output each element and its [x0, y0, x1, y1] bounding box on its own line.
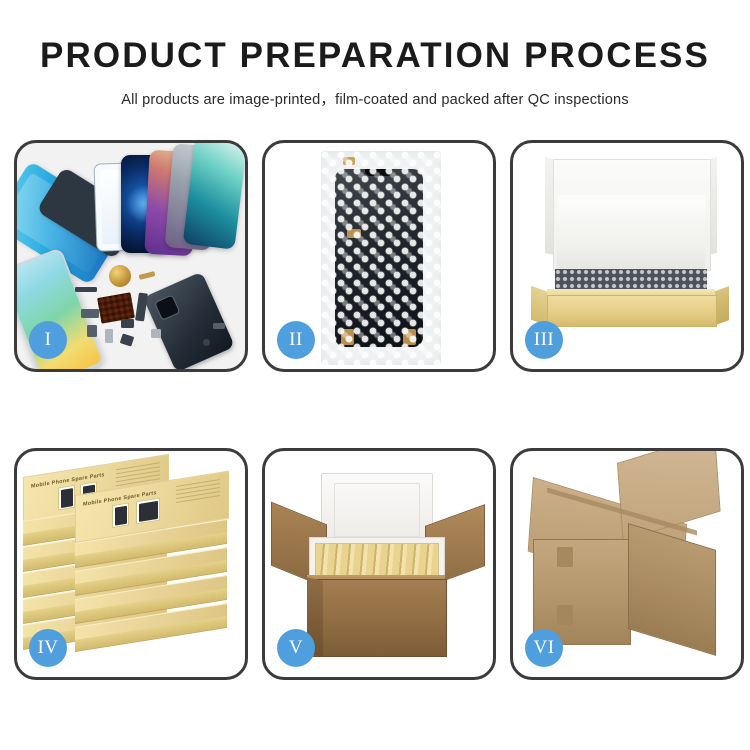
step-panel-1: I [14, 140, 248, 372]
gold-contact-part [139, 271, 156, 280]
front-lid-window-1 [112, 502, 129, 528]
step-panel-3: III [510, 140, 744, 372]
process-step-grid: I II [14, 140, 748, 680]
step-badge-6: VI [525, 629, 563, 667]
connector-part [81, 309, 99, 318]
screw-plate-part [151, 329, 161, 338]
product-preparation-infographic: PRODUCT PREPARATION PROCESS All products… [0, 0, 750, 750]
step-badge-2: II [277, 321, 315, 359]
front-lid-spec-lines [176, 479, 220, 506]
page-subtitle: All products are image-printed，film-coat… [0, 88, 750, 109]
step-panel-6: VI [510, 448, 744, 680]
step-panel-5: V [262, 448, 496, 680]
box-front-wall [547, 295, 717, 327]
step-badge-4: IV [29, 629, 67, 667]
foam-case-lid [321, 473, 433, 547]
white-foam-sheet [557, 195, 705, 269]
carton-tape-upper [557, 547, 573, 567]
carton-body [307, 579, 447, 657]
carton-side-face [628, 523, 716, 656]
small-clip-part [213, 323, 225, 329]
step-badge-3: III [525, 321, 563, 359]
button-part [203, 339, 210, 346]
carton-tape-lower [557, 605, 573, 625]
ribbon-cable-part [135, 293, 148, 322]
bracket-part [120, 333, 135, 346]
teal-gradient-phone [183, 143, 245, 250]
page-title: PRODUCT PREPARATION PROCESS [0, 38, 750, 73]
front-box-stack: Mobile Phone Spare Parts [75, 495, 227, 665]
camera-module-part [87, 325, 97, 337]
rear-lid-window-1 [58, 485, 75, 511]
bubble-wrap-bag [321, 151, 441, 365]
step-panel-4: Mobile Phone Spare Parts [14, 448, 248, 680]
bubble-highlight-layer [321, 151, 441, 365]
speaker-part [121, 319, 134, 328]
step-badge-1: I [29, 321, 67, 359]
step-badge-5: V [277, 629, 315, 667]
sim-tray-part [105, 329, 113, 343]
vibration-motor-part [109, 265, 131, 287]
front-lid-window-2 [136, 498, 160, 525]
step-panel-2: II [262, 140, 496, 372]
phone-back-housing [143, 272, 235, 369]
header: PRODUCT PREPARATION PROCESS All products… [0, 0, 750, 109]
front-box-layer-4 [75, 627, 227, 649]
flex-cable-part [75, 287, 97, 292]
